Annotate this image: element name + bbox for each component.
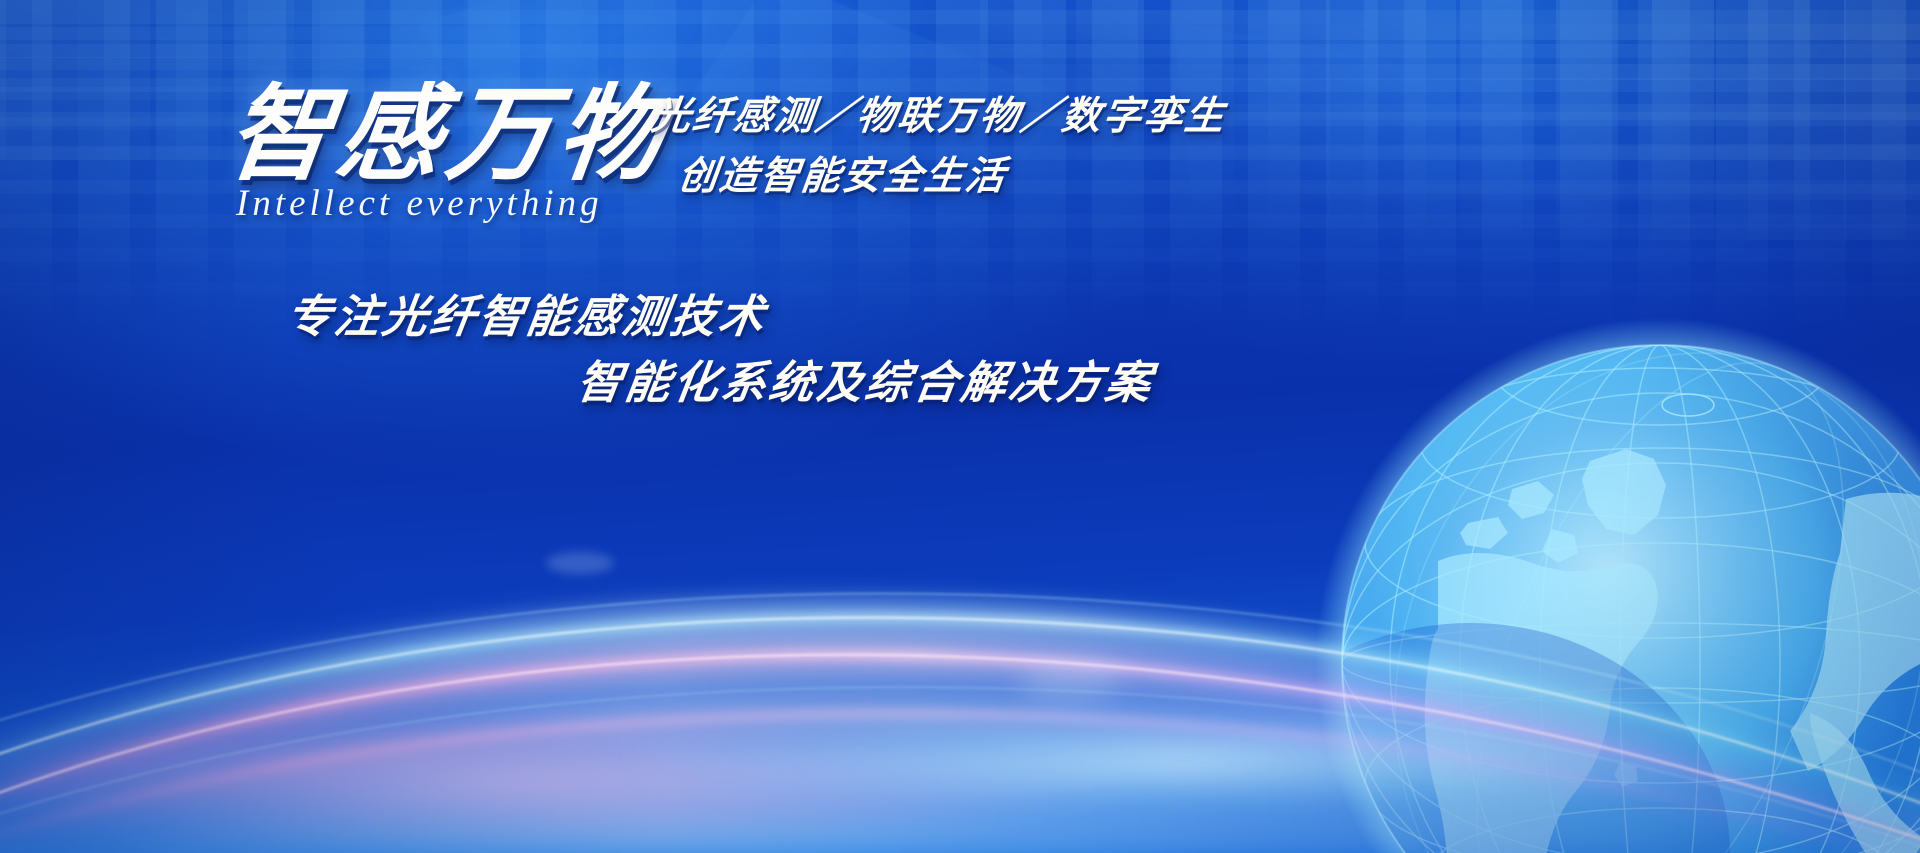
main-headline: 智感万物 xyxy=(222,82,675,186)
slogan-line-1: 光纤感测／物联万物／数字孪生 xyxy=(649,93,1229,139)
tagline-block: 专注光纤智能感测技术 智能化系统及综合解决方案 xyxy=(273,284,1168,416)
tagline-line-2: 智能化系统及综合解决方案 xyxy=(273,350,1158,416)
promotional-banner: 智感万物 Intellect everything 光纤感测／物联万物／数字孪生… xyxy=(0,0,1920,853)
tagline-line-1: 专注光纤智能感测技术 xyxy=(283,290,770,343)
banner-text-layer: 智感万物 Intellect everything 光纤感测／物联万物／数字孪生… xyxy=(0,0,1920,853)
slogan-line-2: 创造智能安全生活 xyxy=(641,146,1222,206)
slogan-block: 光纤感测／物联万物／数字孪生 创造智能安全生活 xyxy=(641,86,1230,206)
headline-english-subtitle: Intellect everything xyxy=(236,182,603,225)
